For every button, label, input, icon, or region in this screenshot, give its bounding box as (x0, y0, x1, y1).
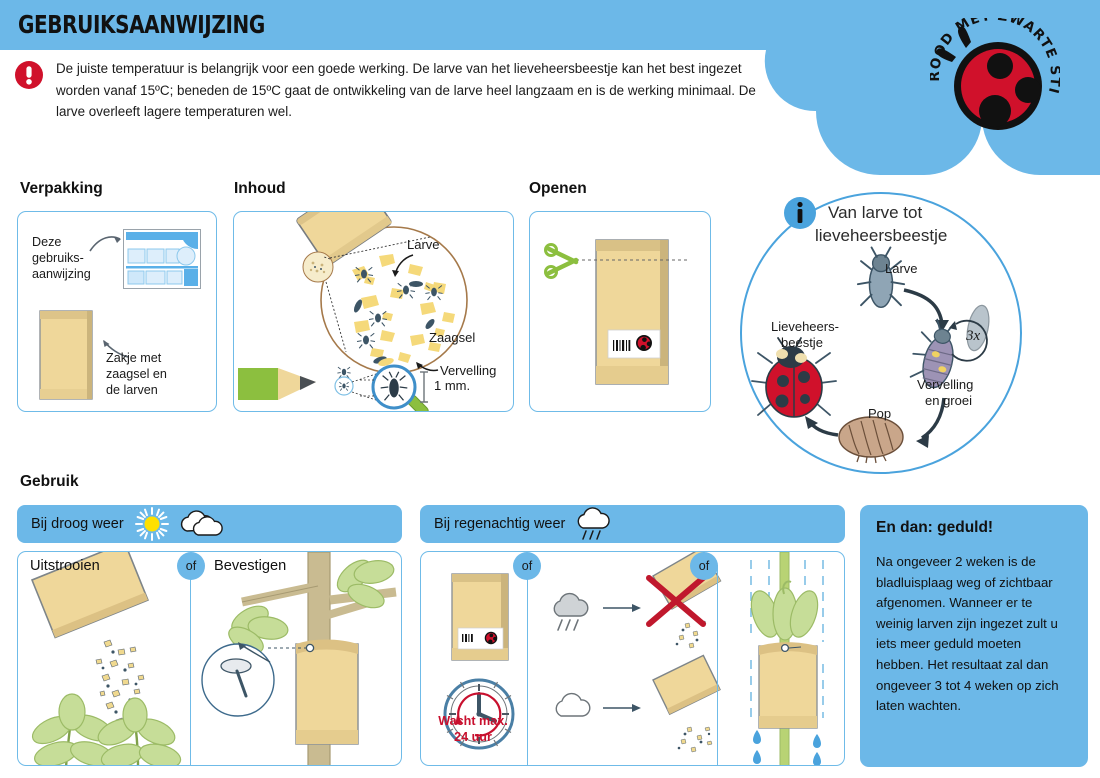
section-title-inhoud: Inhoud (234, 180, 286, 198)
divider-dry (190, 565, 191, 766)
lifecycle-label-moult-line2: en groei (925, 393, 972, 409)
patience-body: Na ongeveer 2 weken is de bladluisplaag … (876, 552, 1072, 717)
wait-label-line2: 24 uur (428, 729, 518, 745)
of-badge-rainy-2[interactable]: of (690, 552, 718, 580)
wait-label-line1: Wacht max. (428, 713, 518, 729)
inhoud-illustration (234, 212, 514, 412)
panel-patience: En dan: geduld! Na ongeveer 2 weken is d… (860, 505, 1088, 767)
bar-rainy-label: Bij regenachtig weer (434, 516, 565, 532)
leaflet-illustration (123, 229, 201, 289)
page-title: GEBRUIKSAANWIJZING (18, 10, 265, 39)
card-openen (529, 211, 711, 412)
lifecycle-label-larve: Larve (885, 261, 918, 277)
arrow-to-leaflet-icon (88, 234, 124, 254)
cloud-icon (180, 509, 224, 539)
bar-dry-weather: Bij droog weer (17, 505, 402, 543)
lifecycle-label-pop: Pop (868, 406, 891, 422)
card-inhoud: Larve Zaagsel Vervelling 1 mm. (233, 211, 514, 412)
card-verpakking: Deze gebruiks- aanwijzing Zakje met zaag… (17, 211, 217, 412)
bar-rainy-weather: Bij regenachtig weer (420, 505, 845, 543)
warning-text: De juiste temperatuur is belangrijk voor… (56, 58, 774, 123)
arrow-larve-icon (389, 252, 417, 280)
lifecycle-label-beetle-line1: Lieveheers- (771, 319, 839, 335)
divider-rainy-2 (717, 565, 718, 766)
card-dry-weather (17, 551, 402, 766)
label-larve: Larve (407, 237, 440, 253)
bag-illustration (38, 309, 96, 401)
panel-title-bevestigen: Bevestigen (214, 558, 286, 574)
lifecycle-label-moult-line1: Vervelling (917, 377, 973, 393)
openen-illustration (530, 212, 711, 412)
panel-title-uitstrooien: Uitstrooien (30, 558, 100, 574)
divider-rainy-1 (527, 565, 528, 766)
section-title-openen: Openen (529, 180, 587, 198)
section-title-gebruik: Gebruik (20, 473, 79, 491)
label-bag-line2: zaagsel en (106, 366, 167, 382)
ladybug-logo: ROOD MET ZWARTE STIPPEN (930, 18, 1060, 148)
label-bag-line1: Zakje met (106, 350, 161, 366)
section-title-verpakking: Verpakking (20, 180, 103, 198)
of-badge-rainy-1[interactable]: of (513, 552, 541, 580)
bar-dry-label: Bij droog weer (31, 516, 124, 532)
label-leaflet-line2: gebruiks- (32, 250, 84, 266)
lifecycle-label-beetle-line2: beestje (781, 335, 823, 351)
patience-title: En dan: geduld! (876, 519, 1072, 537)
label-leaflet-line1: Deze (32, 234, 61, 250)
label-bag-line3: de larven (106, 382, 158, 398)
rain-cloud-icon (575, 507, 615, 541)
warning-note: De juiste temperatuur is belangrijk voor… (14, 58, 774, 123)
arrow-vervelling-icon (414, 360, 440, 376)
info-icon (783, 196, 817, 230)
label-vervelling: Vervelling (440, 363, 496, 379)
dry-illustration (18, 552, 402, 766)
exclamation-icon (14, 60, 44, 90)
moult-count-text: 3x (965, 328, 981, 344)
of-badge-dry[interactable]: of (177, 552, 205, 580)
label-zaagsel: Zaagsel (429, 330, 475, 346)
label-scale: 1 mm. (434, 378, 470, 394)
sun-icon (134, 506, 170, 542)
label-leaflet-line3: aanwijzing (32, 266, 91, 282)
lifecycle-title-line2: lieveheersbeestje (815, 228, 947, 244)
infographic-page: GEBRUIKSAANWIJZING De juiste temperatuur… (0, 0, 1100, 778)
lifecycle-title-line1: Van larve tot (828, 205, 922, 221)
